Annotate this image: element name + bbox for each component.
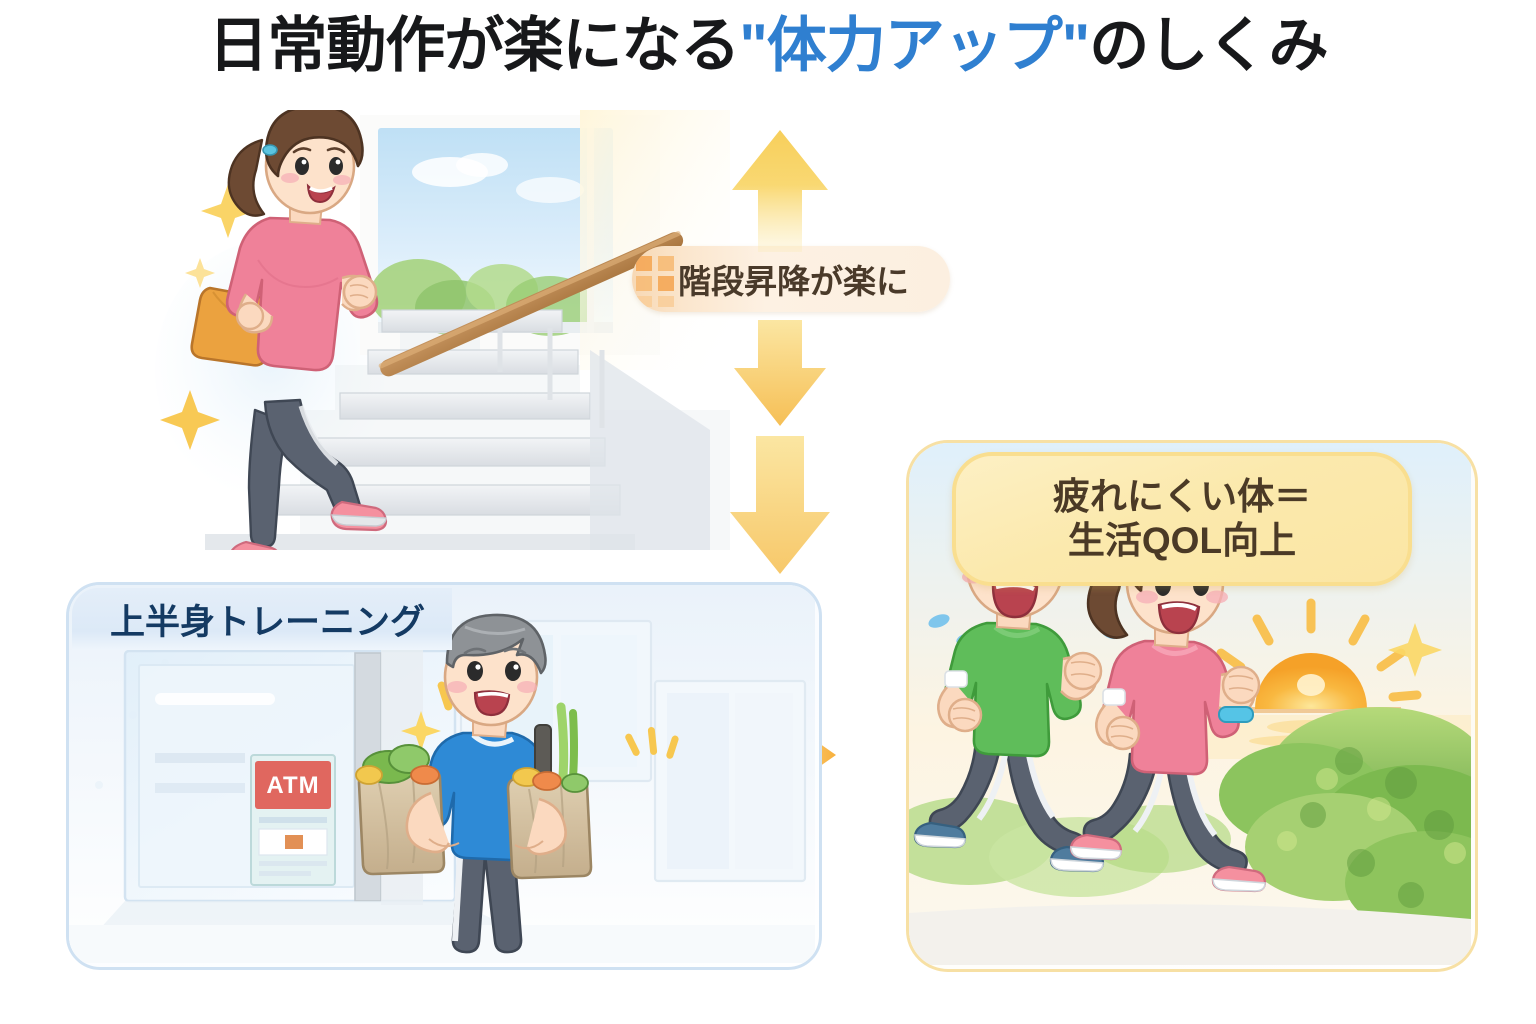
svg-text:ATM: ATM xyxy=(266,772,319,799)
arrow-down-stairs xyxy=(730,318,830,428)
title-text-part-2: のしくみ xyxy=(1089,12,1327,79)
upper-body-training-label: 上半身トレーニング xyxy=(72,588,452,650)
infographic-canvas: 日常動作が楽になる"体力アップ"のしくみ xyxy=(0,0,1536,1024)
wristband xyxy=(1219,707,1253,722)
stairs-caption-text: 階段昇降が楽に xyxy=(678,255,909,303)
qol-caption-line-1: 疲れにくい体＝ xyxy=(1053,475,1311,519)
page-title-block: 日常動作が楽になる"体力アップ"のしくみ xyxy=(0,14,1536,77)
qol-caption-badge: 疲れにくい体＝ 生活QOL向上 xyxy=(952,452,1412,586)
arrow-up-stairs xyxy=(724,128,836,252)
stairs-caption-badge: 階段昇降が楽に xyxy=(632,246,950,312)
stairs-scene-panel xyxy=(150,110,730,550)
page-title: 日常動作が楽になる"体力アップ"のしくみ xyxy=(208,14,1327,77)
arrow-down-long xyxy=(724,434,836,576)
title-text-part-1: 日常動作が楽になる xyxy=(208,12,739,79)
stairs-illustration xyxy=(150,110,730,550)
atm-sign: ATM xyxy=(251,755,335,885)
title-text-highlight: "体力アップ" xyxy=(739,12,1089,79)
upper-body-training-label-text: 上半身トレーニング xyxy=(110,594,425,645)
qol-caption-line-2: 生活QOL向上 xyxy=(1068,519,1296,563)
